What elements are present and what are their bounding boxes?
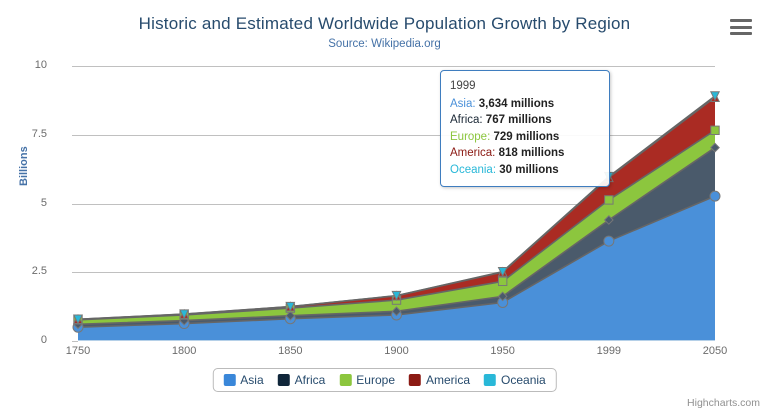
marker-europe[interactable] bbox=[605, 196, 613, 204]
marker-asia[interactable] bbox=[710, 191, 720, 201]
tooltip-header: 1999 bbox=[450, 78, 600, 95]
legend-item-oceania[interactable]: Oceania bbox=[484, 373, 546, 387]
tooltip-series-name: Oceania: bbox=[450, 164, 499, 176]
x-axis-line bbox=[78, 340, 715, 341]
series-layer bbox=[78, 66, 715, 341]
tooltip-rows: Asia: 3,634 millionsAfrica: 767 millions… bbox=[450, 96, 600, 179]
x-axis-tick-label: 1800 bbox=[154, 345, 214, 357]
x-axis-tick-label: 1950 bbox=[473, 345, 533, 357]
tooltip: 1999 Asia: 3,634 millionsAfrica: 767 mil… bbox=[440, 70, 610, 187]
highcharts-container: Historic and Estimated Worldwide Populat… bbox=[0, 0, 769, 416]
tooltip-series-value: 3,634 millions bbox=[479, 98, 554, 110]
y-axis-tick-label: 10 bbox=[0, 59, 47, 71]
tooltip-row-america: America: 818 millions bbox=[450, 145, 600, 162]
marker-asia[interactable] bbox=[604, 236, 614, 246]
tooltip-series-name: Europe: bbox=[450, 131, 493, 143]
tooltip-series-value: 30 millions bbox=[499, 164, 558, 176]
chart-title: Historic and Estimated Worldwide Populat… bbox=[0, 14, 769, 34]
legend-item-europe[interactable]: Europe bbox=[339, 373, 395, 387]
plot-area bbox=[78, 66, 715, 341]
y-axis-title: Billions bbox=[18, 146, 30, 186]
legend: AsiaAfricaEuropeAmericaOceania bbox=[212, 368, 556, 392]
tooltip-series-name: America: bbox=[450, 147, 499, 159]
legend-label: Africa bbox=[295, 373, 326, 387]
tooltip-series-name: Africa: bbox=[450, 114, 486, 126]
menu-bar-2 bbox=[730, 26, 752, 29]
hamburger-menu-icon[interactable] bbox=[730, 19, 752, 35]
y-axis-tick-label: 0 bbox=[0, 334, 47, 346]
tooltip-row-asia: Asia: 3,634 millions bbox=[450, 96, 600, 113]
x-axis-tick-label: 2050 bbox=[685, 345, 745, 357]
legend-swatch bbox=[278, 374, 290, 386]
tooltip-series-value: 767 millions bbox=[486, 114, 552, 126]
legend-item-africa[interactable]: Africa bbox=[278, 373, 326, 387]
tooltip-series-name: Asia: bbox=[450, 98, 479, 110]
credits: Highcharts.com bbox=[687, 397, 760, 409]
legend-swatch bbox=[484, 374, 496, 386]
x-axis-tick-label: 1750 bbox=[48, 345, 108, 357]
tooltip-row-europe: Europe: 729 millions bbox=[450, 129, 600, 146]
y-axis-tick-label: 2.5 bbox=[0, 265, 47, 277]
x-axis-tick-label: 1999 bbox=[579, 345, 639, 357]
marker-europe[interactable] bbox=[711, 126, 719, 134]
tooltip-row-africa: Africa: 767 millions bbox=[450, 112, 600, 129]
tooltip-row-oceania: Oceania: 30 millions bbox=[450, 162, 600, 179]
x-axis-tick-label: 1850 bbox=[260, 345, 320, 357]
menu-bar-3 bbox=[730, 32, 752, 35]
tooltip-series-value: 818 millions bbox=[499, 147, 565, 159]
y-axis-tick-mark bbox=[72, 341, 78, 342]
legend-swatch bbox=[409, 374, 421, 386]
legend-label: Oceania bbox=[501, 373, 546, 387]
y-axis-tick-label: 7.5 bbox=[0, 128, 47, 140]
marker-europe[interactable] bbox=[498, 277, 506, 285]
legend-label: Europe bbox=[356, 373, 395, 387]
tooltip-series-value: 729 millions bbox=[493, 131, 559, 143]
x-axis-tick-label: 1900 bbox=[367, 345, 427, 357]
legend-swatch bbox=[339, 374, 351, 386]
legend-label: America bbox=[426, 373, 470, 387]
legend-label: Asia bbox=[240, 373, 263, 387]
legend-swatch bbox=[223, 374, 235, 386]
legend-item-america[interactable]: America bbox=[409, 373, 470, 387]
legend-item-asia[interactable]: Asia bbox=[223, 373, 263, 387]
y-axis-tick-label: 5 bbox=[0, 197, 47, 209]
menu-bar-1 bbox=[730, 19, 752, 22]
chart-subtitle: Source: Wikipedia.org bbox=[0, 38, 769, 50]
